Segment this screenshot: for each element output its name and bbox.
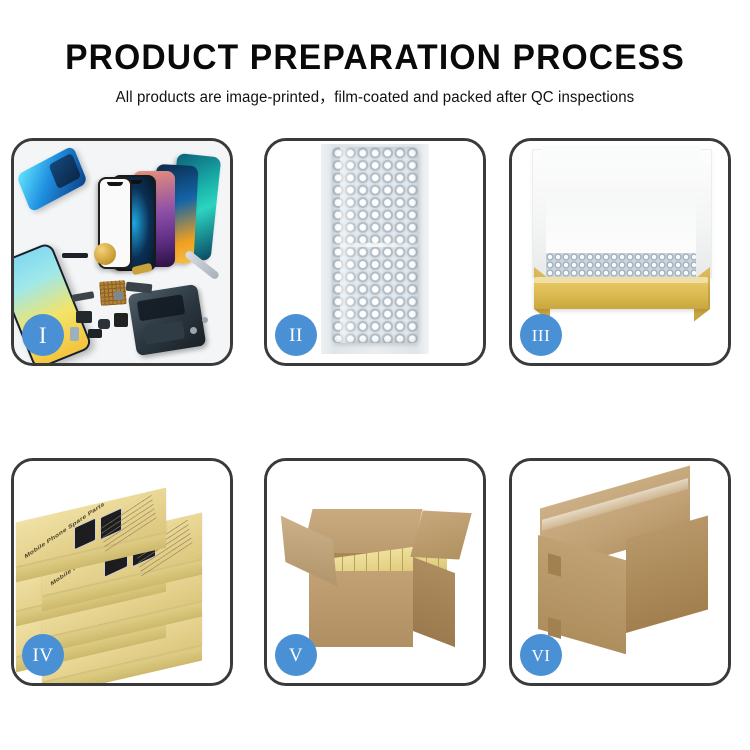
process-step-3: III: [509, 138, 731, 366]
phone-chassis-icon: [128, 284, 207, 356]
white-box-lid-top: [542, 145, 700, 167]
process-step-grid: 9:08: [0, 138, 750, 698]
carton-edge-tab: [548, 553, 561, 577]
camera-module-icon: [76, 311, 92, 323]
process-step-4: Mobile Phone Spare Parts Mobile Phone Sp…: [11, 458, 233, 686]
small-bracket-icon: [114, 291, 123, 300]
speaker-box-icon: [88, 329, 102, 338]
screw-icon: [202, 317, 208, 323]
step-badge-2: II: [275, 314, 317, 356]
kraft-tray-rim: [534, 277, 708, 283]
sim-tray-icon: [70, 327, 79, 341]
step-badge-5: V: [275, 634, 317, 676]
connector-strip-icon: [126, 282, 153, 294]
page-title: PRODUCT PREPARATION PROCESS: [15, 0, 735, 78]
ic-chip-icon: [114, 313, 128, 327]
header: PRODUCT PREPARATION PROCESS All products…: [0, 0, 750, 108]
step-badge-6: VI: [520, 634, 562, 676]
carton-right-side: [413, 557, 455, 647]
process-step-5: V: [264, 458, 486, 686]
bubble-wrap-seam: [332, 243, 418, 247]
step-badge-3: III: [520, 314, 562, 356]
step-badge-1: I: [22, 314, 64, 356]
phone-fan-group: 9:08: [100, 153, 230, 265]
screw-icon: [190, 327, 197, 334]
white-box-interior: [546, 199, 696, 261]
blue-screen-protector-icon: [16, 145, 88, 212]
carton-front-face: [309, 571, 413, 647]
flex-cable-icon: [72, 291, 95, 302]
process-step-1: 9:08: [11, 138, 233, 366]
page-subtitle: All products are image-printed，film-coat…: [11, 78, 739, 108]
product-preparation-infographic: PRODUCT PREPARATION PROCESS All products…: [0, 0, 750, 750]
earpiece-speaker-icon: [62, 253, 88, 258]
bubble-wrap-pouch-icon: [332, 147, 418, 343]
process-step-6: VI: [509, 458, 731, 686]
button-part-icon: [98, 319, 110, 329]
vibration-motor-icon: [94, 243, 116, 265]
process-step-2: II: [264, 138, 486, 366]
retail-box-labeled: Mobile Phone Spare Parts: [16, 505, 166, 549]
carton-right-flap: [410, 511, 471, 560]
kraft-tray-front-icon: [534, 281, 708, 309]
step-badge-4: IV: [22, 634, 64, 676]
